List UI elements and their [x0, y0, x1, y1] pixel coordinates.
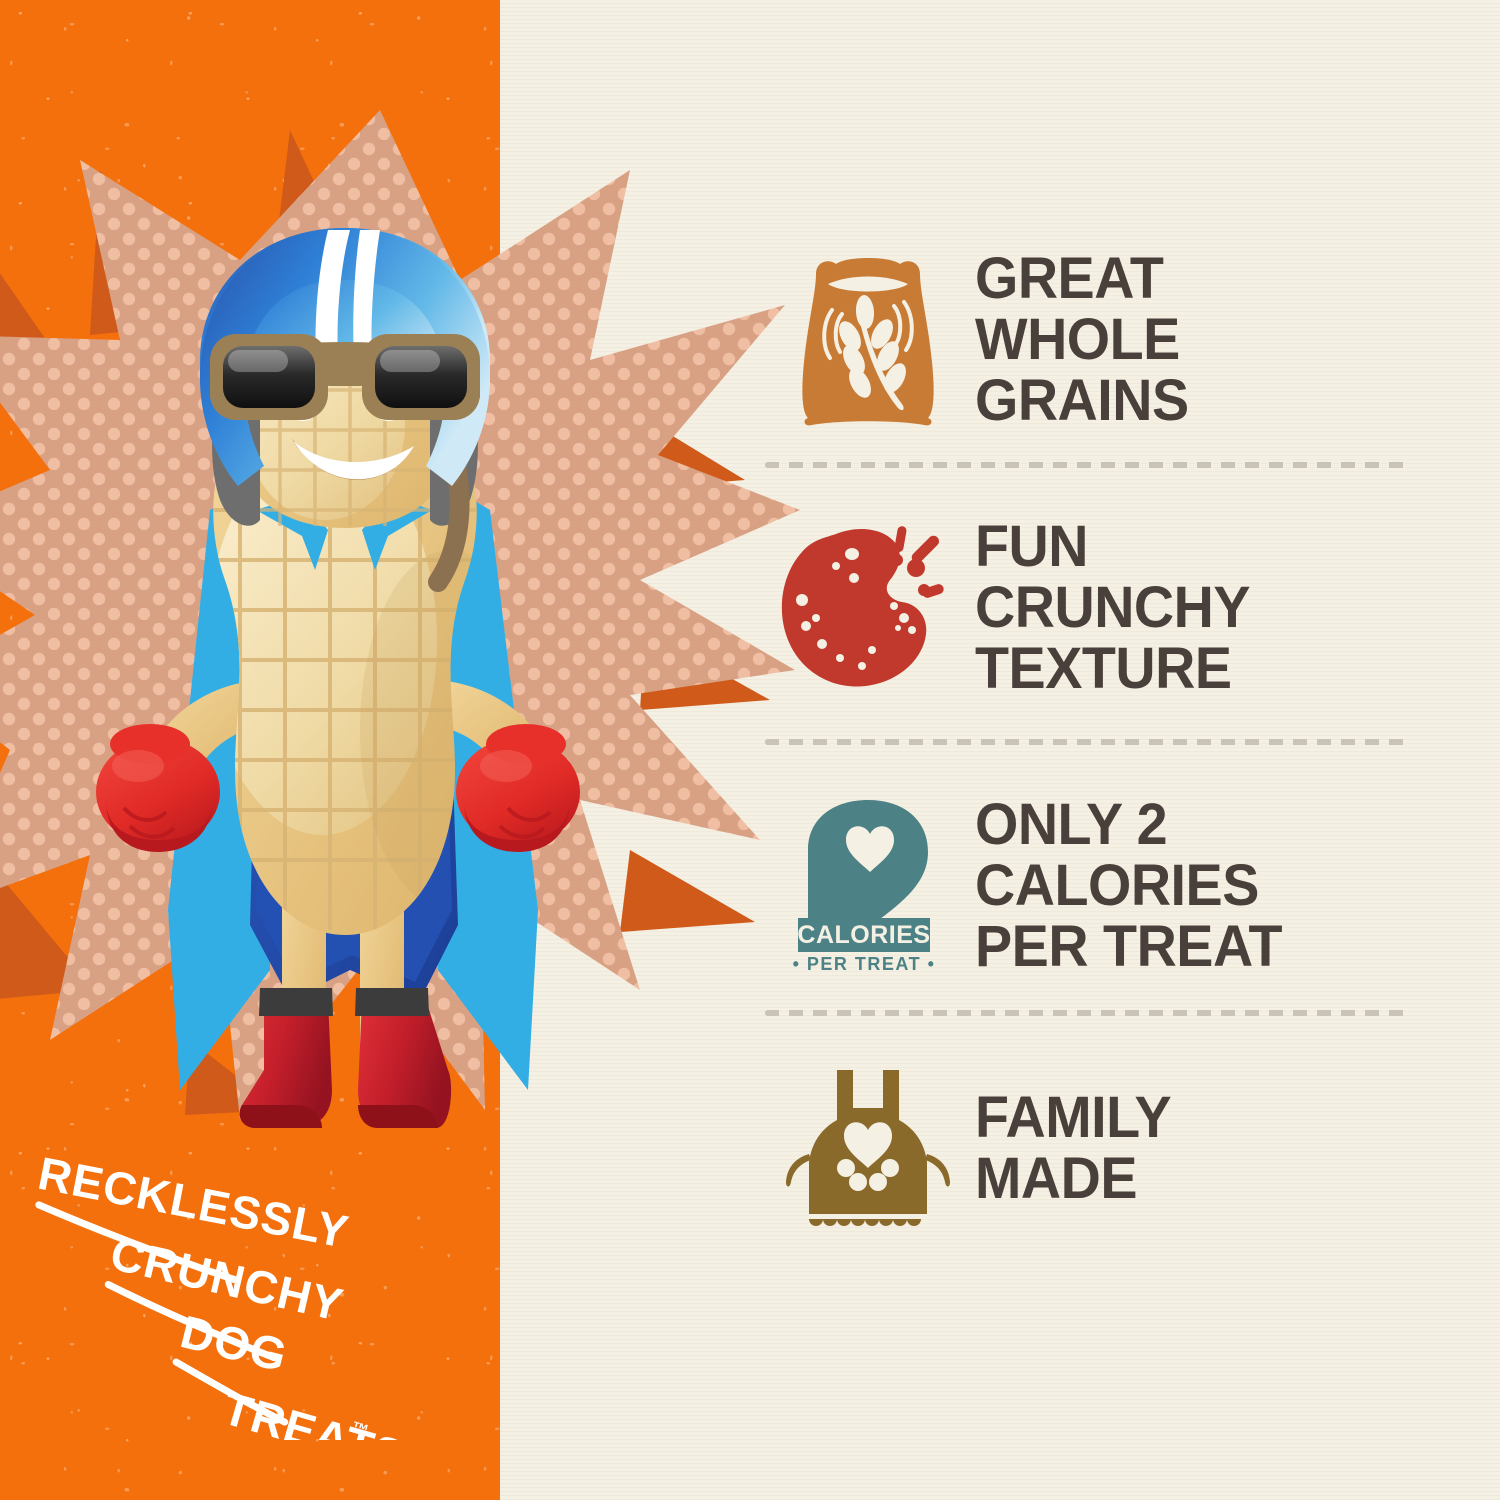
peanut-mascot — [60, 210, 620, 1170]
feature-row-family-made: FAMILY MADE — [760, 1040, 1460, 1255]
tagline-line-4: TREATS — [217, 1382, 400, 1440]
feature-label-crunchy-texture: FUN CRUNCHY TEXTURE — [975, 516, 1250, 699]
feature-list: GREAT WHOLE GRAINS — [760, 0, 1460, 1500]
divider-1 — [765, 462, 1410, 468]
tagline-line-1: RECKLESSLY — [34, 1147, 353, 1258]
feature-label-calories: ONLY 2 CALORIES PER TREAT — [975, 794, 1282, 977]
calories-badge-line-1: CALORIES — [797, 921, 930, 949]
calories-badge-line-2: • PER TREAT • — [792, 954, 935, 973]
infographic-canvas: RECKLESSLY CRUNCHY DOG TREATS ™ — [0, 0, 1500, 1500]
boots — [240, 988, 451, 1128]
feature-label-family-made: FAMILY MADE — [975, 1087, 1171, 1209]
divider-3 — [765, 1010, 1410, 1016]
brand-tagline: RECKLESSLY CRUNCHY DOG TREATS ™ — [20, 1140, 400, 1440]
apron-icon — [760, 1040, 975, 1255]
feature-row-whole-grains: GREAT WHOLE GRAINS — [760, 232, 1460, 447]
two-calories-badge-icon: CALORIES • PER TREAT • — [760, 778, 975, 993]
crunch-burst-marks — [891, 525, 945, 599]
divider-2 — [765, 739, 1410, 745]
feature-row-crunchy-texture: FUN CRUNCHY TEXTURE — [760, 500, 1460, 715]
feature-label-whole-grains: GREAT WHOLE GRAINS — [975, 248, 1189, 431]
grain-sack-icon — [760, 232, 975, 447]
feature-row-calories: CALORIES • PER TREAT • ONLY 2 CALORIES P… — [760, 778, 1460, 993]
bitten-cookie-icon — [760, 500, 975, 715]
